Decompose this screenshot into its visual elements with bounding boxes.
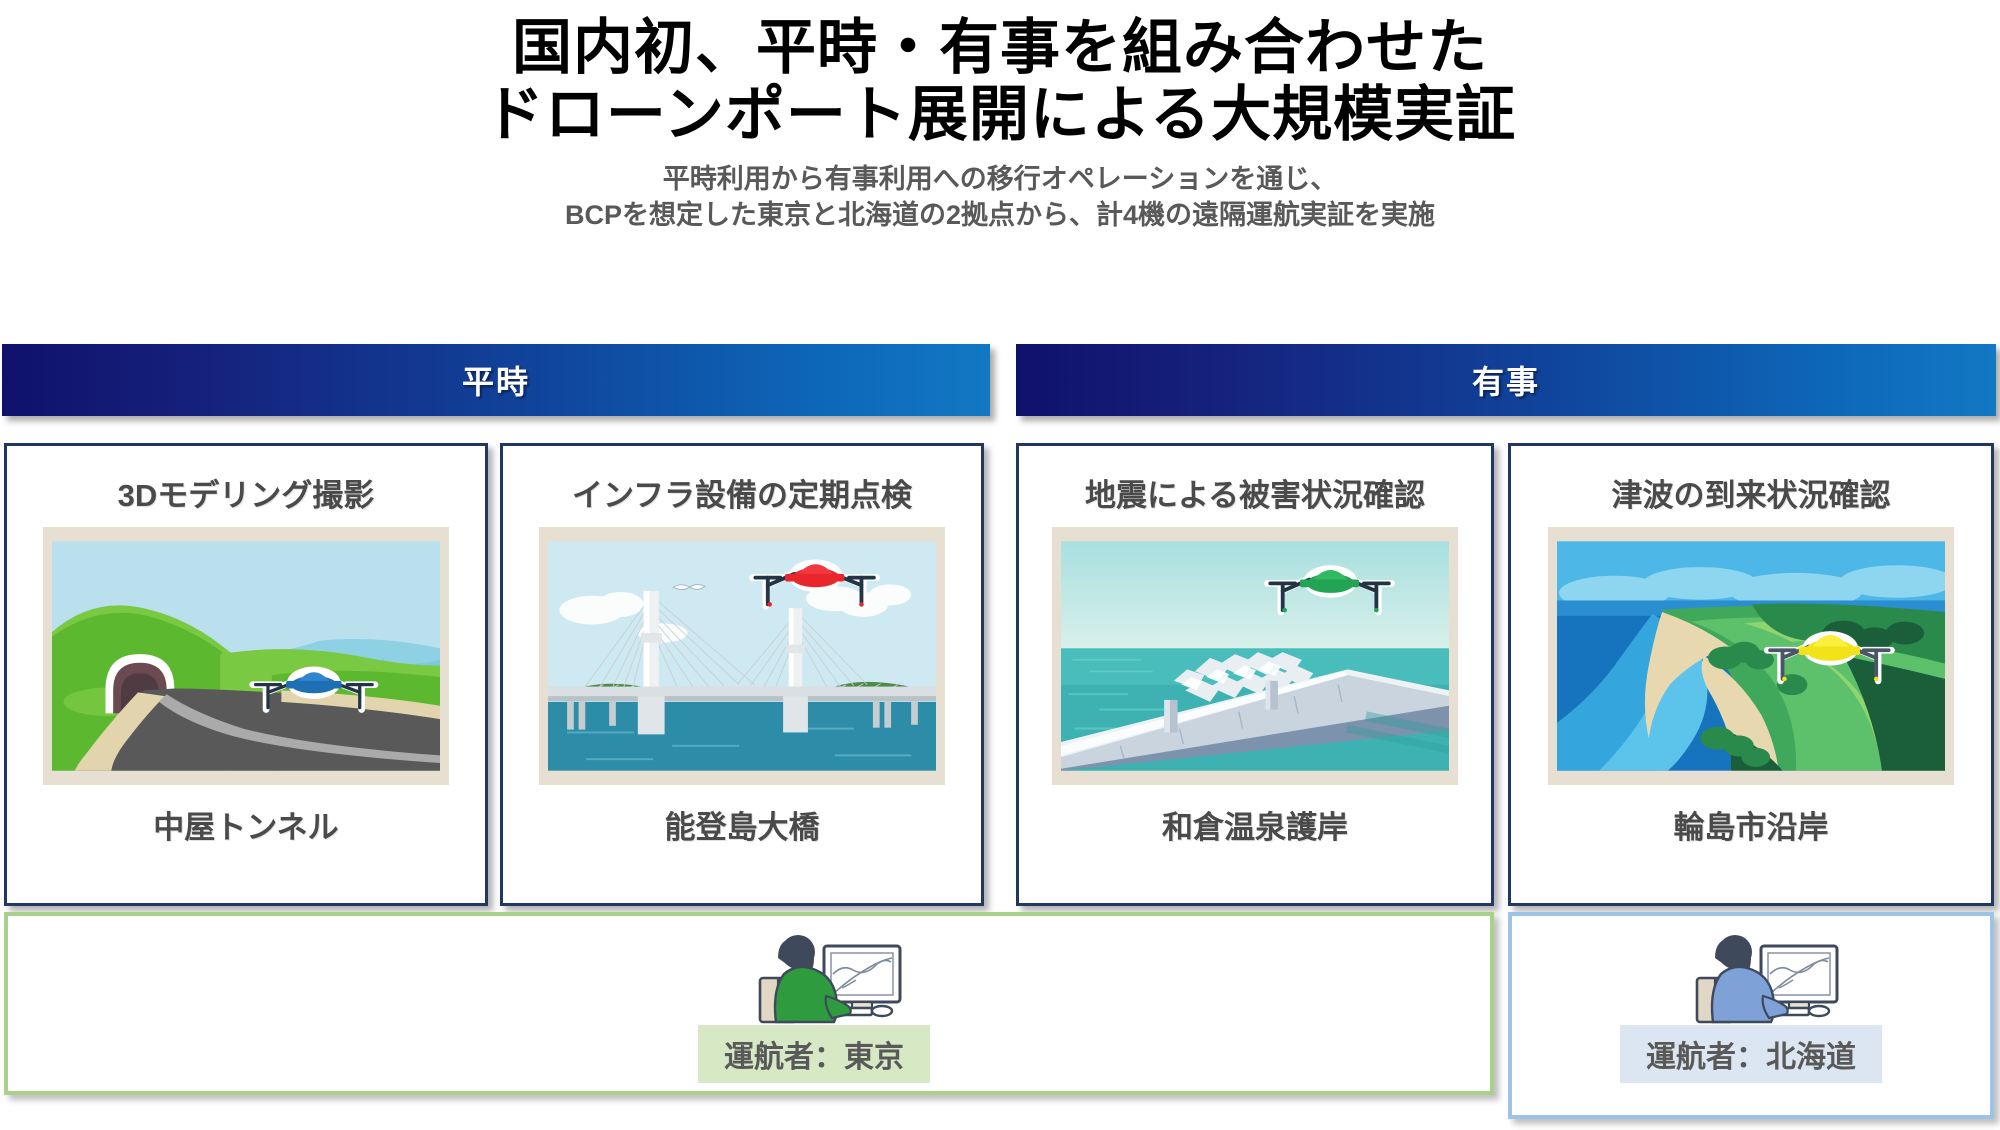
page-subtitle: 平時利用から有事利用への移行オペレーションを通じ、 BCPを想定した東京と北海道… [0,162,2000,234]
card-title: 地震による被害状況確認 [1085,470,1425,515]
cable-stayed-bridge-scene [548,536,936,776]
phase-bar-emergency: 有事 [1016,344,1996,416]
card-image-frame [1052,527,1458,785]
card-caption: 輪島市沿岸 [1674,802,1829,847]
operator-label-tokyo: 運航者：東京 [698,1025,930,1083]
card-image-frame [1548,527,1954,785]
title-line-2: ドローンポート展開による大規模実証 [0,81,2000,148]
title-line-1: 国内初、平時・有事を組み合わせた [0,14,2000,81]
operator-workstation-icon [714,922,914,1039]
subtitle-line-1: 平時利用から有事利用への移行オペレーションを通じ、 [0,162,2000,198]
operator-workstation-icon [1651,922,1851,1039]
coastline-hills-scene [1557,536,1945,776]
card-infrastructure-inspection: インフラ設備の定期点検 [500,443,984,906]
card-title: 津波の到来状況確認 [1612,470,1891,515]
card-tsunami-arrival-check: 津波の到来状況確認 [1508,443,1994,906]
card-title: インフラ設備の定期点検 [572,470,912,515]
phase-bar-peacetime: 平時 [2,344,990,416]
page-title: 国内初、平時・有事を組み合わせた ドローンポート展開による大規模実証 [0,0,2000,148]
card-3d-modeling: 3Dモデリング撮影 [4,443,488,906]
operator-panel-hokkaido: 運航者：北海道 [1508,912,1994,1119]
operator-row: 運航者：東京 [0,912,2000,1130]
phase-bar-row: 平時 有事 [0,344,2000,416]
tunnel-road-scene [52,536,440,776]
card-caption: 能登島大橋 [665,802,820,847]
card-caption: 中屋トンネル [153,802,338,847]
operator-label-hokkaido: 運航者：北海道 [1620,1025,1882,1083]
phase-bar-emergency-label: 有事 [1472,357,1540,403]
card-earthquake-damage-check: 地震による被害状況確認 [1016,443,1494,906]
phase-bar-peacetime-label: 平時 [462,357,530,403]
subtitle-line-2: BCPを想定した東京と北海道の2拠点から、計4機の遠隔運航実証を実施 [0,198,2000,234]
card-image-frame [43,527,449,785]
card-title: 3Dモデリング撮影 [118,470,375,515]
card-row: 3Dモデリング撮影 [0,443,2000,908]
seawall-breakwater-scene [1061,536,1449,776]
operator-panel-tokyo: 運航者：東京 [4,912,1494,1095]
card-caption: 和倉温泉護岸 [1162,802,1348,847]
card-image-frame [539,527,945,785]
